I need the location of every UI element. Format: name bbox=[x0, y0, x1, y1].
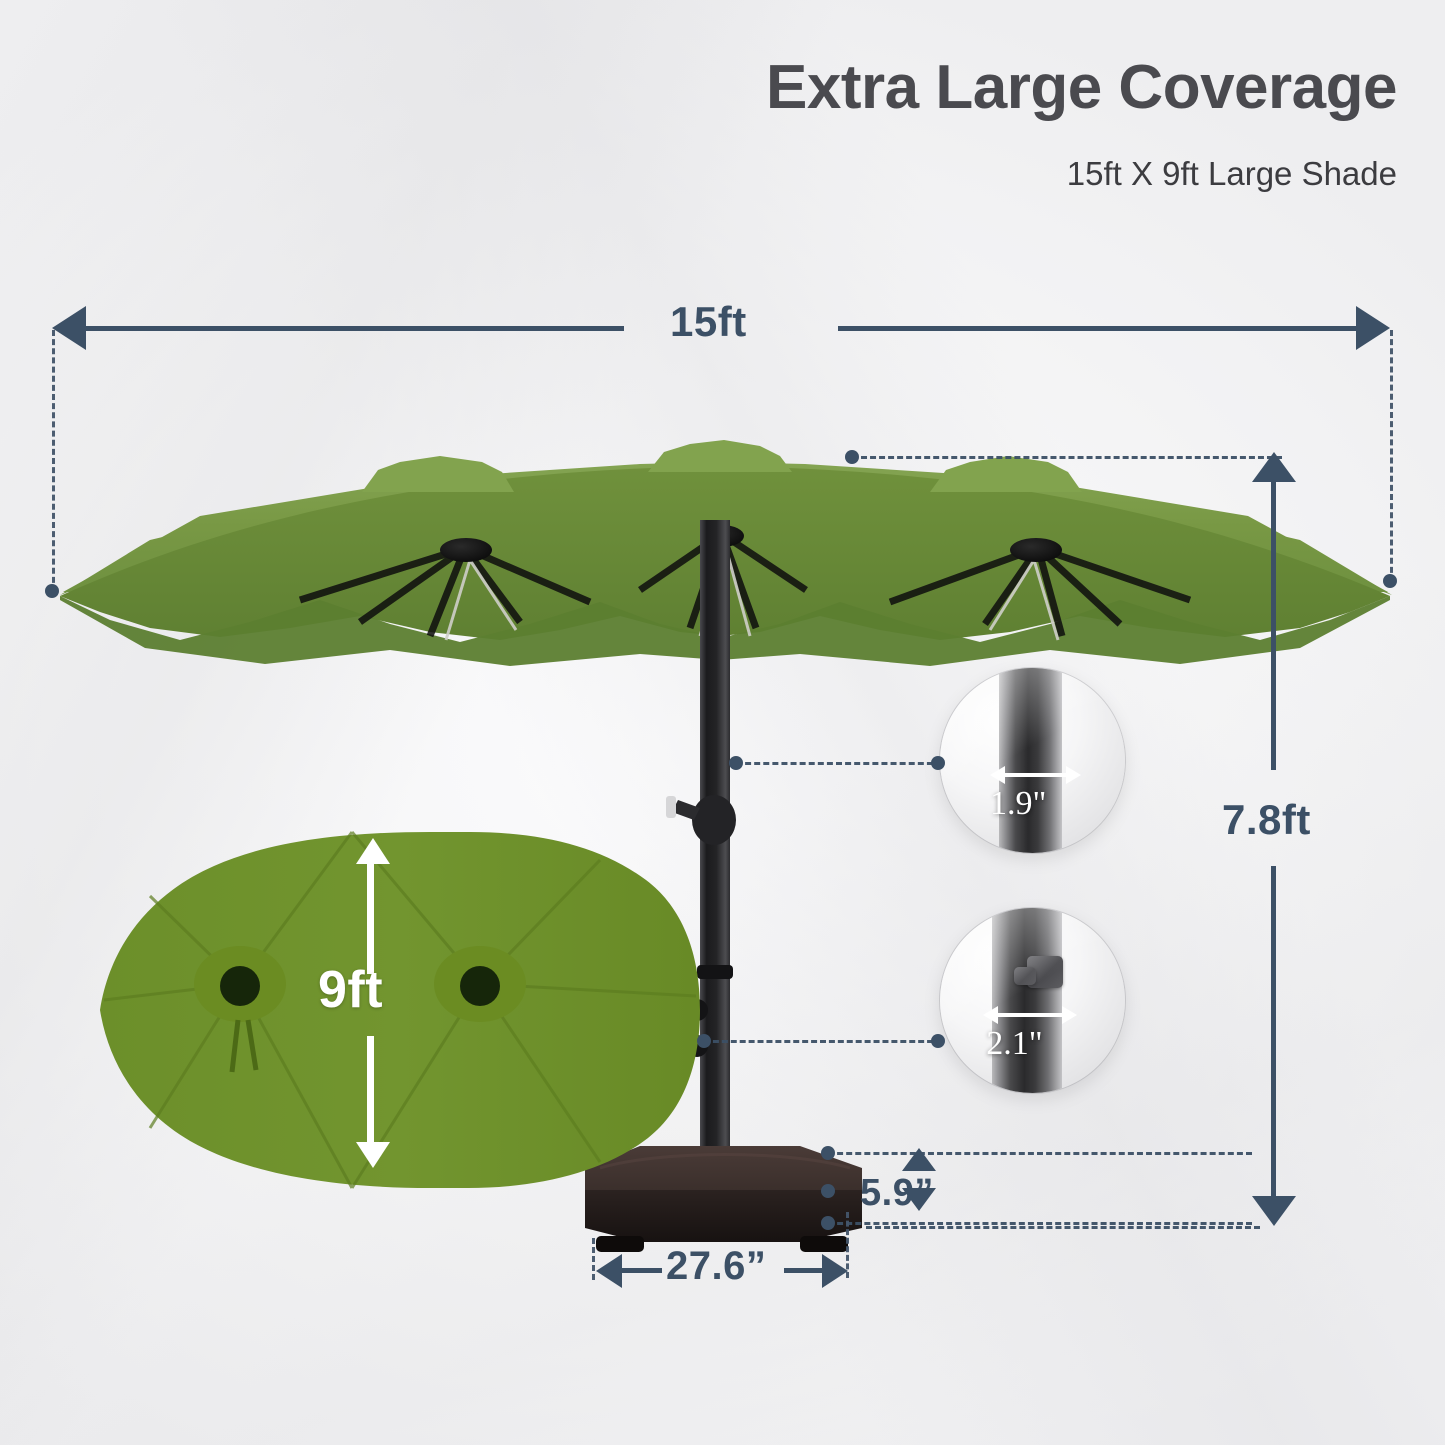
callout-label-upper-pole: 1.9" bbox=[990, 785, 1046, 823]
dimension-base-width-label: 27.6” bbox=[666, 1244, 766, 1289]
dimension-width-label: 15ft bbox=[670, 298, 747, 346]
top-down-canopy bbox=[100, 832, 700, 1188]
callout-bubble-upper-pole: 1.9" bbox=[940, 668, 1125, 853]
callout-label-lower-pole: 2.1" bbox=[986, 1025, 1042, 1063]
callout-bubble-lower-pole: 2.1" bbox=[940, 908, 1125, 1093]
infographic-canvas: Extra Large Coverage 15ft X 9ft Large Sh… bbox=[0, 0, 1445, 1445]
umbrella-base bbox=[585, 1146, 862, 1252]
dimension-height-label: 7.8ft bbox=[1222, 796, 1311, 844]
dimension-depth-label: 9ft bbox=[318, 960, 383, 1020]
